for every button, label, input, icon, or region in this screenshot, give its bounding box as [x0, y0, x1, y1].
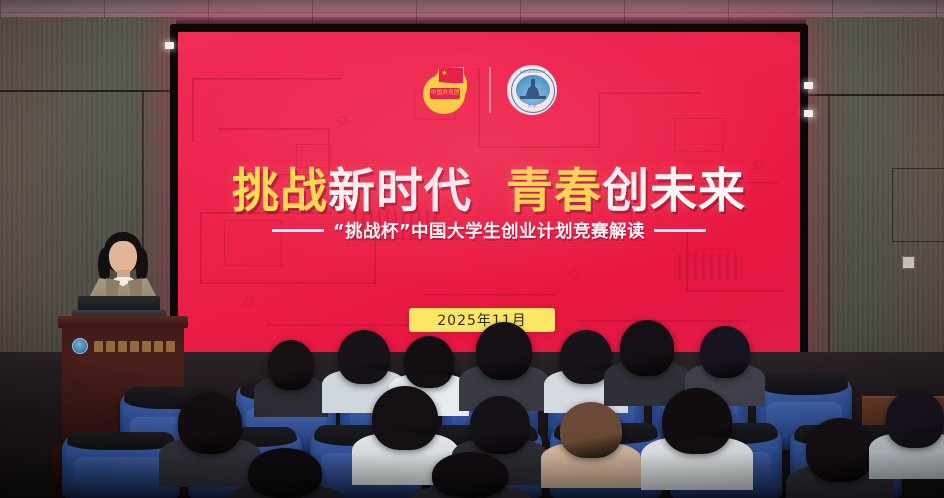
audience-member-head	[404, 336, 454, 388]
audience-member-head	[662, 388, 732, 454]
communist-youth-league-emblem-icon: ★ 中国共青团	[421, 64, 473, 116]
audience-member-head	[248, 448, 322, 498]
audience-member-head	[806, 418, 874, 482]
podium-crest-icon	[72, 338, 88, 354]
university-seal-text-bottom: 大学	[508, 103, 558, 109]
ceiling-light-reflection	[804, 82, 813, 89]
logo-divider	[489, 67, 491, 113]
audience-member-head	[268, 340, 314, 390]
title-highlight-2: 青春	[506, 164, 602, 219]
led-screen-bezel: ★ 中国共青团 UNIVERSITY 大学 挑战新时代青春创未来	[170, 24, 808, 360]
ceiling-light-reflection	[165, 42, 174, 49]
led-display-screen: ★ 中国共青团 UNIVERSITY 大学 挑战新时代青春创未来	[178, 32, 800, 352]
audience-member-head	[432, 452, 508, 498]
date-badge: 2025年11月	[409, 308, 555, 332]
screen-subtitle-row: “挑战杯”中国大学生创业计划竞赛解读	[178, 218, 800, 243]
screen-title: 挑战新时代青春创未来	[178, 152, 800, 221]
audience-member-head	[560, 402, 622, 458]
audience-member-head	[372, 386, 438, 450]
podium-name-plate	[94, 340, 178, 352]
audience-member-head	[338, 330, 390, 384]
subtitle-rule-right	[654, 229, 706, 232]
audience-member-head	[476, 322, 532, 380]
ceiling-light-reflection	[804, 110, 813, 117]
title-highlight-1: 挑战	[232, 164, 328, 219]
auditorium-presentation-scene: ★ 中国共青团 UNIVERSITY 大学 挑战新时代青春创未来	[0, 0, 944, 498]
audience-member-head	[620, 320, 674, 376]
subtitle-rule-left	[272, 229, 324, 232]
audience-member-head	[700, 326, 750, 378]
university-seal-text-top: UNIVERSITY	[508, 70, 558, 74]
audience-member-head	[886, 390, 944, 448]
audience-member-head	[470, 396, 530, 454]
university-seal-icon: UNIVERSITY 大学	[507, 65, 557, 115]
youth-league-band-text: 中国共青团	[430, 88, 460, 99]
screen-subtitle: “挑战杯”中国大学生创业计划竞赛解读	[333, 218, 645, 243]
audience-member-head	[178, 392, 242, 454]
screen-logo-row: ★ 中国共青团 UNIVERSITY 大学	[178, 64, 800, 116]
title-rest-1: 新时代	[328, 164, 472, 219]
title-rest-2: 创未来	[602, 164, 746, 219]
